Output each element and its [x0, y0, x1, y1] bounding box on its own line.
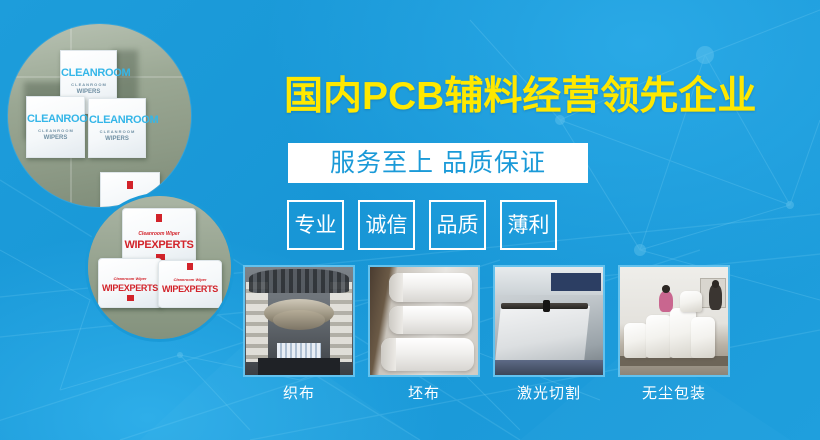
pack-wipers-label: WIPERS	[61, 89, 116, 95]
pack-brand-label: CLEANROOM	[89, 114, 145, 126]
process-thumbnail-row: 织布 坯布	[243, 265, 730, 402]
photo-fabric-rolls	[368, 265, 480, 377]
keyword-badge-row: 专业 诚信 品质 薄利	[287, 200, 557, 250]
pack-wipers-label: WIPERS	[89, 136, 145, 142]
process-thumbnail-cleanroom-packing: 无尘包装	[618, 265, 730, 402]
keyword-badge-pinzhi: 品质	[429, 200, 486, 250]
pack-brand-label: WIPEXPERTS	[159, 284, 221, 294]
machine-hood	[551, 273, 601, 290]
machine-top-creel	[249, 269, 348, 293]
keyword-badge-label: 品质	[437, 215, 479, 236]
keyword-badge-label: 诚信	[366, 215, 408, 236]
fabric-bale	[691, 317, 715, 358]
laser-head	[543, 300, 551, 312]
thumbnail-caption: 织布	[243, 386, 355, 402]
red-stamp	[127, 181, 133, 189]
thumbnail-caption: 无尘包装	[618, 386, 730, 402]
process-thumbnail-weaving: 织布	[243, 265, 355, 402]
pack-script-label: Cleanroom Wiper	[99, 276, 161, 281]
fabric-roll	[381, 338, 474, 370]
roll-end-cap	[381, 338, 396, 370]
pack-wipers-label: WIPERS	[27, 135, 84, 141]
pack-brand-label: WIPEXPERTS	[99, 283, 161, 293]
keyword-badge-zhuanye: 专业	[287, 200, 344, 250]
pack-script-label: Cleanroom Wiper	[123, 231, 195, 237]
pack-subline: C L E A N R O O M	[89, 129, 145, 134]
keyword-badge-chengxin: 诚信	[358, 200, 415, 250]
keyword-badge-label: 专业	[295, 215, 337, 236]
keyword-badge-baoli: 薄利	[500, 200, 557, 250]
machine-cylinder-inner	[273, 310, 325, 329]
product-photo-wipexperts: Cleanroom Wiper WIPEXPERTS Cleanroom Wip…	[88, 196, 231, 339]
pack-brand-label: WIPEXPERTS	[123, 239, 195, 251]
wipexperts-pack: Cleanroom Wiper WIPEXPERTS	[158, 260, 222, 308]
roll-end-cap	[389, 306, 402, 334]
wipes-pack: CLEANROOM C L E A N R O O M WIPERS	[26, 96, 85, 158]
keyword-badge-label: 薄利	[508, 215, 550, 236]
pack-subline: C L E A N R O O M	[27, 128, 84, 133]
thumbnail-caption: 激光切割	[493, 386, 605, 402]
wipes-pack: CLEANROOM C L E A N R O O M WIPERS	[88, 98, 146, 158]
subtitle-text: 服务至上 品质保证	[330, 151, 546, 176]
product-photo-cleanroom-wipers: CLEANROOM C L E A N R O O M WIPERS CLEAN…	[8, 24, 191, 207]
wipexperts-pack: Cleanroom Wiper WIPEXPERTS	[98, 258, 162, 308]
fabric-bale	[624, 323, 648, 358]
photo-knitting-machine	[243, 265, 355, 377]
thumbnail-caption: 坯布	[368, 386, 480, 402]
banner-headline: 国内PCB辅料经营领先企业	[284, 74, 784, 120]
pack-brand-label: CLEANROOM	[61, 67, 116, 79]
promo-banner: CLEANROOM C L E A N R O O M WIPERS CLEAN…	[0, 0, 820, 440]
machine-base	[258, 358, 340, 375]
roll-end-cap	[389, 273, 402, 301]
fabric-bale	[680, 291, 702, 313]
machine-frame	[495, 360, 603, 375]
photo-packing-room	[618, 265, 730, 377]
red-stamp	[156, 214, 162, 222]
subtitle-bar: 服务至上 品质保证	[288, 143, 588, 183]
fabric-roll	[389, 306, 471, 334]
photo-laser-cutter	[493, 265, 605, 377]
pack-brand-label: CLEANROOM	[27, 113, 84, 125]
fabric-bale	[646, 315, 672, 358]
red-stamp	[127, 295, 134, 301]
fabric-roll	[389, 273, 471, 301]
worker-head	[662, 285, 670, 293]
yarn-spools	[246, 282, 268, 362]
red-stamp	[187, 263, 193, 270]
worker-head	[712, 280, 720, 288]
pack-script-label: Cleanroom Wiper	[159, 277, 221, 282]
worker-figure	[709, 284, 722, 310]
cutting-bed	[495, 306, 589, 362]
process-thumbnail-laser-cutting: 激光切割	[493, 265, 605, 402]
pack-subline: C L E A N R O O M	[61, 82, 116, 87]
process-thumbnail-greige-fabric: 坯布	[368, 265, 480, 402]
yarn-spools	[330, 282, 352, 362]
